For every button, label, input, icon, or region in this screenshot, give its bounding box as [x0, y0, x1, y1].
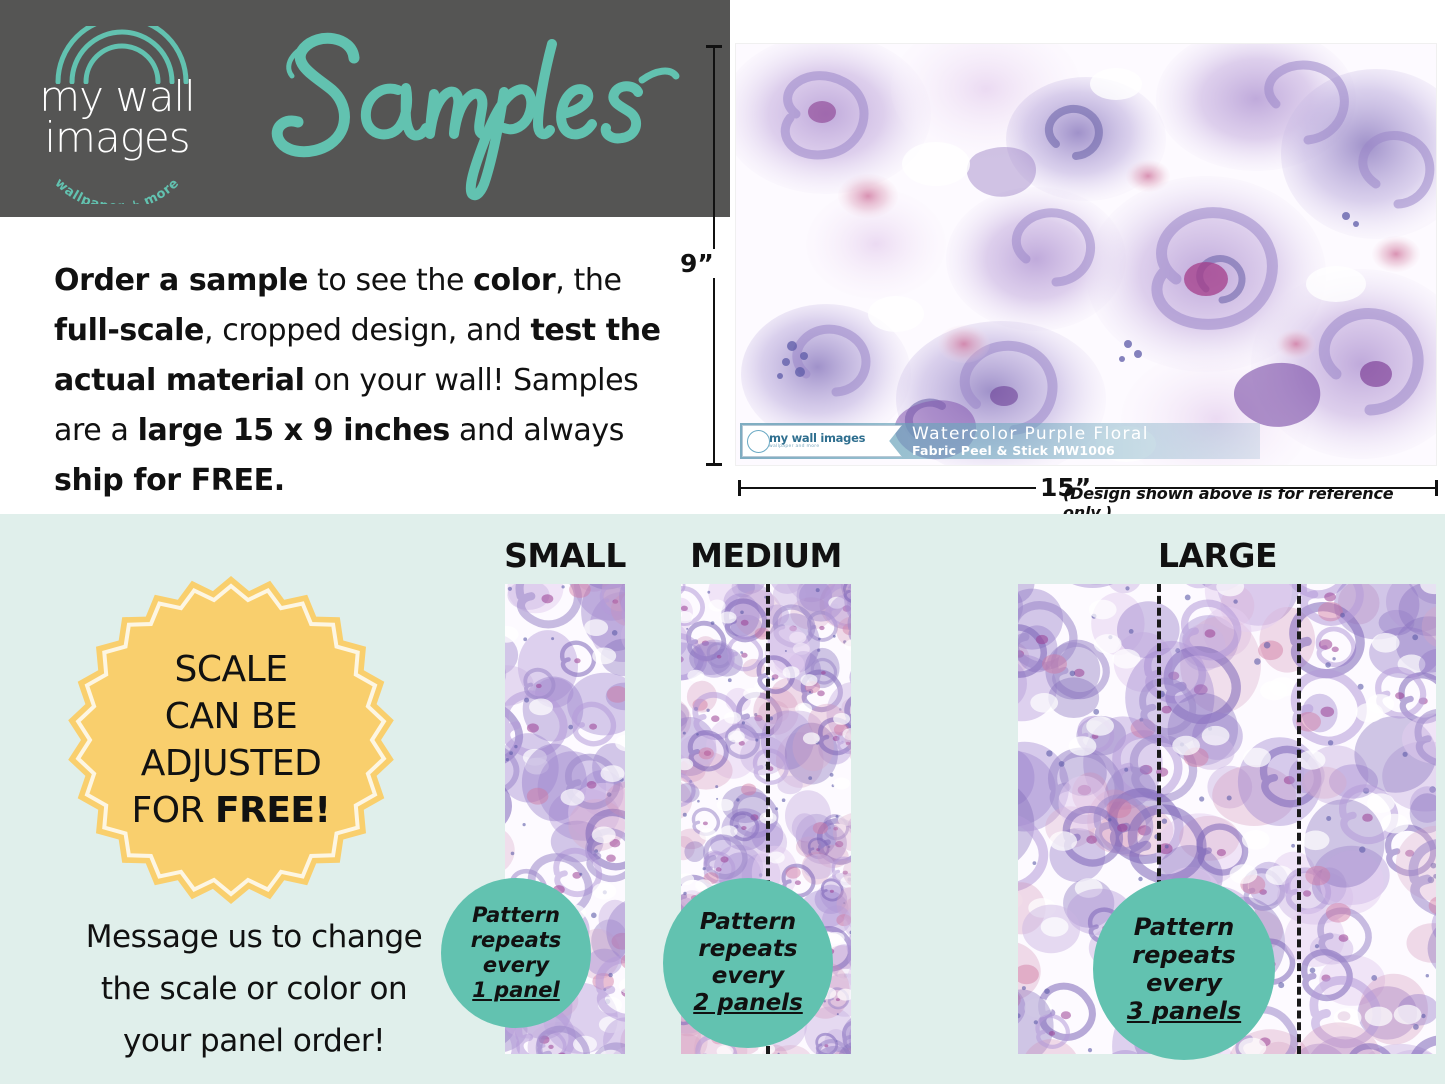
repeat-large-line-3: every: [1146, 969, 1222, 997]
sample-label-logo: my wall images wallpaper and more: [742, 425, 902, 457]
design-material: Fabric Peel & Stick MW1006: [912, 443, 1149, 458]
message-line-3: your panel order!: [44, 1015, 464, 1067]
repeat-small-line-3: every: [483, 953, 549, 978]
repeat-medium-line-3: every: [712, 963, 785, 990]
sample-preview-image: my wall images wallpaper and more Waterc…: [736, 44, 1436, 465]
repeat-badge-medium: Pattern repeats every 2 panels: [663, 878, 833, 1048]
samples-infographic: my wall images wallpaper + more: [0, 0, 1445, 1084]
sample-label-text: Watercolor Purple Floral Fabric Peel & S…: [912, 425, 1149, 458]
scale-title-large: LARGE: [990, 536, 1445, 576]
logo-ring-icon: [747, 430, 770, 453]
watercolor-floral-artwork: [736, 44, 1436, 465]
header-bar: my wall images wallpaper + more: [0, 0, 730, 217]
message-us-copy: Message us to change the scale or color …: [44, 911, 464, 1067]
sample-label-brand: my wall images: [769, 433, 901, 444]
brand-logo: my wall images wallpaper + more: [22, 26, 212, 194]
repeat-large-line-2: repeats: [1132, 941, 1236, 969]
panel-divider: [1297, 584, 1301, 1054]
message-line-1: Message us to change: [44, 911, 464, 963]
height-dimension-label: 9”: [678, 249, 716, 278]
repeat-small-line-1: Pattern: [472, 903, 560, 928]
badge-line-3: ADJUSTED: [141, 740, 322, 787]
badge-line-4: FOR FREE!: [132, 787, 331, 834]
badge-line-4-emphasis: FREE!: [215, 790, 330, 831]
badge-text: SCALE CAN BE ADJUSTED FOR FREE!: [66, 575, 396, 905]
badge-line-2: CAN BE: [165, 693, 298, 740]
svg-text:wallpaper + more: wallpaper + more: [52, 176, 183, 204]
logo-line-1: my wall: [22, 76, 212, 117]
scale-title-medium: MEDIUM: [630, 536, 902, 576]
intro-paragraph: Order a sample to see the color, the ful…: [54, 256, 674, 506]
repeat-medium-line-4: 2 panels: [693, 990, 803, 1017]
repeat-medium-line-2: repeats: [698, 936, 797, 963]
sample-label-brand-sub: wallpaper and more: [769, 444, 901, 450]
badge-line-4-prefix: FOR: [132, 790, 216, 831]
logo-line-2: images: [22, 117, 212, 158]
height-dimension-cap-top: [706, 45, 722, 48]
scale-adjust-badge: SCALE CAN BE ADJUSTED FOR FREE!: [66, 575, 396, 905]
repeat-large-line-4: 3 panels: [1127, 997, 1241, 1025]
repeat-small-line-2: repeats: [471, 928, 562, 953]
samples-script-title: [222, 18, 692, 203]
design-name: Watercolor Purple Floral: [912, 425, 1149, 443]
repeat-small-line-4: 1 panel: [472, 978, 560, 1003]
repeat-badge-large: Pattern repeats every 3 panels: [1093, 878, 1275, 1060]
width-dimension-cap-left: [738, 480, 741, 496]
sample-design-label: my wall images wallpaper and more Waterc…: [740, 423, 1260, 459]
badge-line-1: SCALE: [175, 646, 288, 693]
repeat-medium-line-1: Pattern: [700, 909, 796, 936]
logo-wordmark: my wall images: [22, 76, 212, 158]
repeat-badge-small: Pattern repeats every 1 panel: [441, 878, 591, 1028]
repeat-large-line-1: Pattern: [1134, 913, 1234, 941]
height-dimension-cap-bottom: [706, 463, 722, 466]
logo-tagline: wallpaper + more: [22, 164, 212, 204]
message-line-2: the scale or color on: [44, 963, 464, 1015]
